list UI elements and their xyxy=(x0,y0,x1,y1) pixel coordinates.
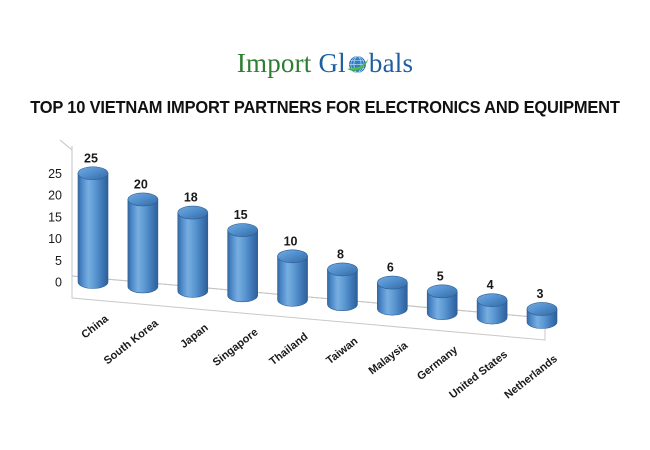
x-category-label: Singapore xyxy=(211,326,261,369)
bar-cylinder xyxy=(228,224,258,302)
x-category-label: South Korea xyxy=(102,317,162,367)
globe-icon xyxy=(346,50,369,73)
brand-logo-text: Import Gl bals xyxy=(237,46,413,80)
brand-logo: Import Gl bals xyxy=(0,46,650,84)
bar-top-cap xyxy=(327,263,357,276)
bar-value-label: 6 xyxy=(387,261,394,275)
bar-value-label: 8 xyxy=(337,247,344,261)
logo-word-bals: bals xyxy=(369,48,413,78)
x-category-label: Taiwan xyxy=(324,335,360,367)
bar-top-cap xyxy=(527,302,557,315)
x-category-label: United States xyxy=(447,348,510,401)
bar-top-cap xyxy=(477,294,507,307)
bar-cylinder xyxy=(178,206,208,297)
y-tick-label: 5 xyxy=(55,254,62,268)
bar-value-label: 10 xyxy=(284,234,298,248)
bar-body xyxy=(178,213,208,298)
bar-cylinder xyxy=(477,294,507,324)
x-category-label: China xyxy=(79,312,111,341)
bar-body xyxy=(128,199,158,293)
bar-top-cap xyxy=(427,285,457,298)
y-tick-label: 20 xyxy=(48,189,62,203)
y-tick-label: 10 xyxy=(48,232,62,246)
y-axis-tick-labels: 0510152025 xyxy=(48,167,62,290)
bar-cylinder xyxy=(427,285,457,320)
bar-value-label: 5 xyxy=(437,269,444,283)
bar-value-label: 20 xyxy=(134,177,148,191)
bar-cylinder xyxy=(377,276,407,315)
bar-body xyxy=(228,230,258,302)
logo-word-gl: Gl xyxy=(318,48,345,78)
bar-body xyxy=(78,173,108,288)
x-category-label: Thailand xyxy=(267,331,310,368)
bar-value-label: 3 xyxy=(537,287,544,301)
x-category-label: Netherlands xyxy=(502,353,559,402)
bar-top-cap xyxy=(178,206,208,219)
bar-cylinder xyxy=(278,250,308,307)
y-tick-label: 25 xyxy=(48,167,62,181)
bar-value-label: 25 xyxy=(84,151,98,165)
logo-word-import: Import xyxy=(237,48,312,78)
x-category-label: Japan xyxy=(178,322,211,351)
bar-chart-3d: 0510152025 252018151086543 ChinaSouth Ko… xyxy=(0,140,650,410)
bar-cylinder xyxy=(327,263,357,311)
bar-top-cap xyxy=(228,224,258,237)
bar-value-label: 15 xyxy=(234,208,248,222)
bar-top-cap xyxy=(278,250,308,263)
bar-body xyxy=(278,256,308,306)
x-category-label: Malaysia xyxy=(367,339,411,377)
x-category-label: Germany xyxy=(415,343,461,382)
page-title: TOP 10 VIETNAM IMPORT PARTNERS FOR ELECT… xyxy=(20,97,631,118)
bar-cylinder xyxy=(128,193,158,293)
bar-cylinder xyxy=(527,302,557,328)
bar-value-label: 4 xyxy=(487,278,494,292)
chart-canvas: 0510152025 252018151086543 ChinaSouth Ko… xyxy=(0,140,650,410)
y-tick-label: 15 xyxy=(48,210,62,224)
y-tick-label: 0 xyxy=(55,276,62,290)
bar-cylinder xyxy=(78,167,108,289)
bar-top-cap xyxy=(78,167,108,180)
bar-top-cap xyxy=(128,193,158,206)
bar-top-cap xyxy=(377,276,407,289)
bar-value-label: 18 xyxy=(184,191,198,205)
